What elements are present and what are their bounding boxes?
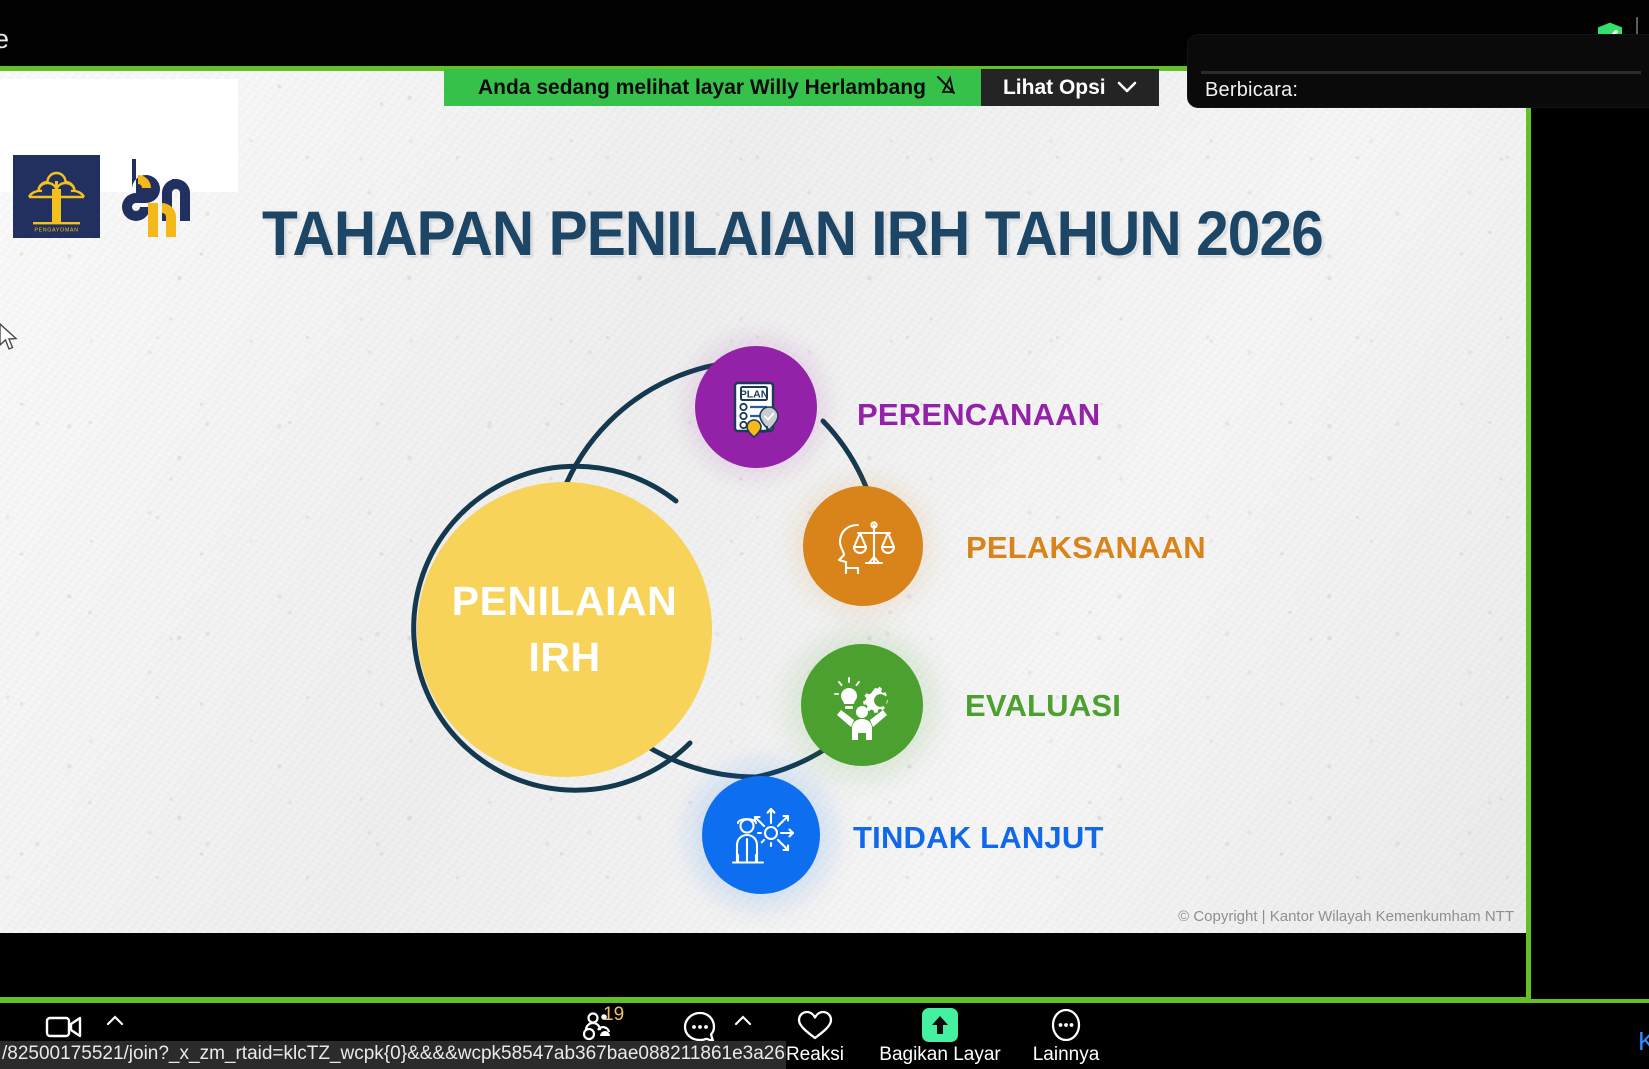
share-up-arrow-icon xyxy=(922,1006,958,1044)
stage-label-evaluasi: EVALUASI xyxy=(965,688,1121,724)
view-options-button[interactable]: Lihat Opsi xyxy=(981,69,1159,106)
video-options-caret[interactable] xyxy=(105,1008,125,1032)
person-gear-arrows-icon xyxy=(725,799,797,871)
page-title: TAHAPAN PENILAIAN IRH TAHUN 2026 xyxy=(262,203,1378,266)
hub-line-2: IRH xyxy=(528,630,600,685)
stage-label-tindak-lanjut: TINDAK LANJUT xyxy=(853,820,1104,856)
stage-label-pelaksanaan: PELAKSANAAN xyxy=(966,530,1206,566)
sharing-status-text: Anda sedang melihat layar Willy Herlamba… xyxy=(478,76,926,100)
ellipsis-icon xyxy=(1047,1006,1085,1044)
reactions-label: Reaksi xyxy=(786,1044,844,1066)
head-scales-icon xyxy=(828,511,898,581)
stage-label-perencanaan: PERENCANAAN xyxy=(857,397,1100,433)
stage-node-pelaksanaan[interactable] xyxy=(803,486,923,606)
plan-checklist-icon: PLAN xyxy=(721,372,791,442)
share-banner: Anda sedang melihat layar Willy Herlamba… xyxy=(444,69,1159,106)
share-screen-label: Bagikan Layar xyxy=(879,1044,1000,1066)
speaking-panel-bar xyxy=(1201,71,1641,74)
view-options-label: Lihat Opsi xyxy=(1003,76,1106,100)
leave-meeting-button[interactable]: Kel xyxy=(1638,1026,1649,1057)
speaking-label: Berbicara: xyxy=(1205,79,1298,102)
stage-node-tindak-lanjut[interactable] xyxy=(702,776,820,894)
more-button[interactable]: Lainnya xyxy=(991,1006,1141,1066)
app-window: e Berbicara: xyxy=(0,0,1649,1069)
presentation-slide: PENGAYOMAN TAHAPAN PENILAIAN IRH TAHUN 2… xyxy=(0,71,1526,933)
svg-text:PLAN: PLAN xyxy=(740,389,769,401)
mouse-cursor xyxy=(0,322,20,357)
slide-copyright: © Copyright | Kantor Wilayah Kemenkumham… xyxy=(1178,908,1514,925)
person-lightbulb-gear-icon xyxy=(827,670,897,740)
hub-circle: PENILAIAN IRH xyxy=(417,482,712,777)
stage-node-perencanaan[interactable]: PLAN xyxy=(695,346,817,468)
browser-status-url: /82500175521/join?_x_zm_rtaid=klcTZ_wcpk… xyxy=(0,1041,786,1069)
heart-icon xyxy=(795,1006,835,1044)
sharing-status: Anda sedang melihat layar Willy Herlamba… xyxy=(444,69,981,106)
participants-count: 19 xyxy=(603,1004,624,1026)
more-label: Lainnya xyxy=(1033,1044,1100,1066)
screen-share-icon xyxy=(935,74,957,102)
browser-edge-letter: e xyxy=(0,26,9,53)
toolbar-accent-line xyxy=(0,999,1649,1003)
hub-line-1: PENILAIAN xyxy=(452,574,677,629)
chevron-down-icon xyxy=(1117,76,1137,100)
stage-node-evaluasi[interactable] xyxy=(801,644,923,766)
